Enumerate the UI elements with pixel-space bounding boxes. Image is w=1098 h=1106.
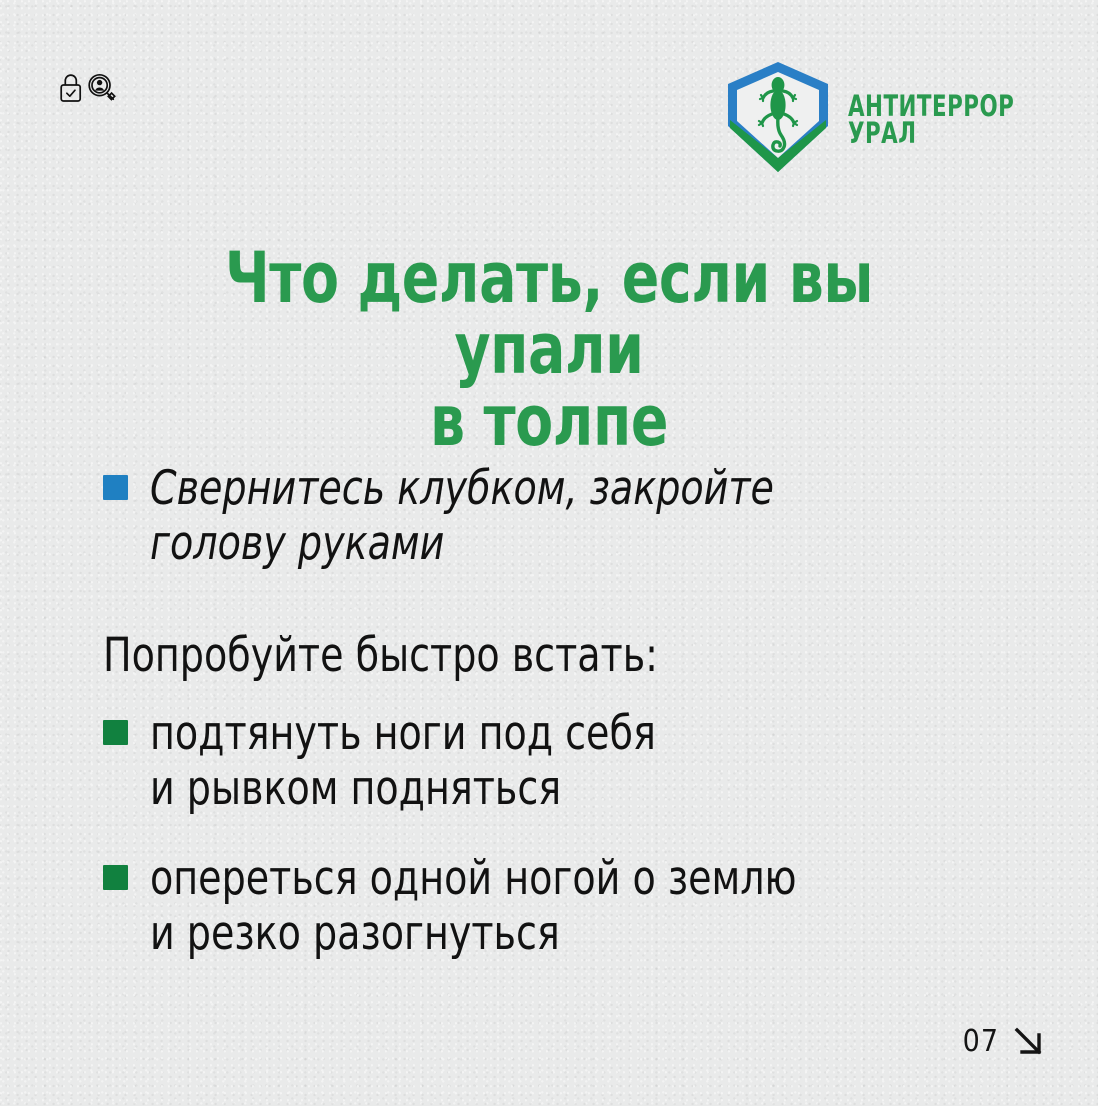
brand-line-2: УРАЛ xyxy=(848,120,1014,147)
list-item-text: опереться одной ногой о землю и резко ра… xyxy=(150,852,797,961)
page-title-line-1: Что делать, если вы упали xyxy=(127,243,970,386)
list-item-text: подтянуть ноги под себя и рывком поднять… xyxy=(150,707,656,816)
bullet-square-green-icon xyxy=(103,865,128,890)
brand-logo: АНТИТЕРРОР УРАЛ xyxy=(724,58,1051,181)
page-footer: 07 xyxy=(963,1024,1046,1059)
bullet-square-blue-icon xyxy=(103,475,128,500)
intro-bullet-item: Свернитесь клубком, закройте голову рука… xyxy=(103,462,1003,571)
arrow-down-right-icon xyxy=(1012,1025,1046,1059)
list-item: подтянуть ноги под себя и рывком поднять… xyxy=(103,707,1003,816)
steps-list: подтянуть ноги под себя и рывком поднять… xyxy=(103,707,1003,961)
page-title-line-2: в толпе xyxy=(127,386,970,457)
section-heading: Попробуйте быстро встать: xyxy=(103,629,913,683)
shield-lizard-emblem-icon xyxy=(724,58,832,181)
bullet-square-green-icon xyxy=(103,720,128,745)
slide-content: Свернитесь клубком, закройте голову рука… xyxy=(103,462,1003,961)
list-item: опереться одной ногой о землю и резко ра… xyxy=(103,852,1003,961)
page-number: 07 xyxy=(963,1024,999,1059)
page-title: Что делать, если вы упали в толпе xyxy=(0,243,1098,457)
intro-bullet-text: Свернитесь клубком, закройте голову рука… xyxy=(150,462,774,571)
brand-wordmark: АНТИТЕРРОР УРАЛ xyxy=(848,93,1051,147)
lock-check-icon xyxy=(58,72,84,104)
header-icon-group xyxy=(58,72,118,106)
person-search-icon xyxy=(86,72,118,106)
